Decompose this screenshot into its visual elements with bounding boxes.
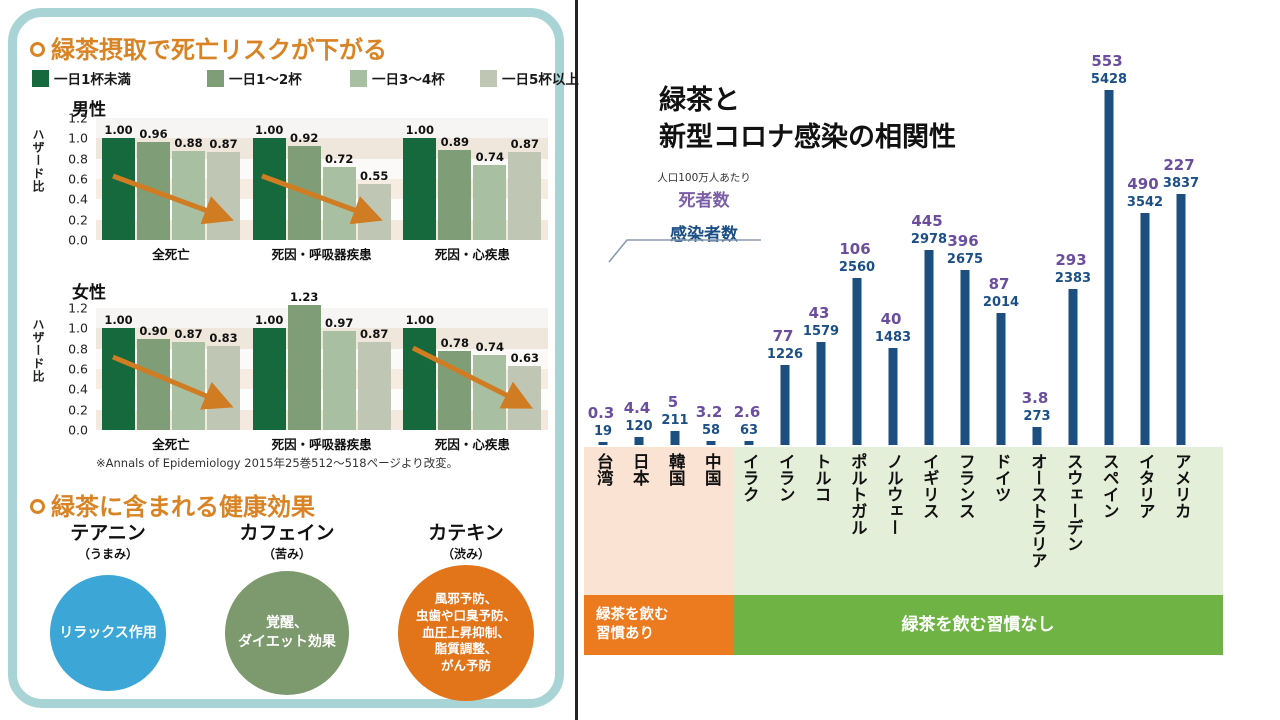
- covid-deaths-value: 5: [668, 393, 678, 411]
- legend-label: 一日1杯未満: [54, 68, 131, 88]
- covid-deaths-value: 490: [1127, 175, 1158, 193]
- section-title-effects: 緑茶に含まれる健康効果: [30, 487, 315, 522]
- component-circle-0: リラックス作用: [50, 575, 166, 691]
- covid-country-label: オーストラリア: [1029, 453, 1046, 569]
- bar-value-label: 0.87: [209, 137, 237, 151]
- bar-value-label: 0.87: [511, 137, 539, 151]
- bar: [253, 328, 286, 430]
- covid-country-label: トルコ: [813, 453, 830, 503]
- infographic-root: 緑茶摂取で死亡リスクが下がる 一日1杯未満一日1〜2杯一日3〜4杯一日5杯以上 …: [0, 0, 1280, 720]
- component-name-1: カフェイン（苦み）: [239, 518, 334, 562]
- bar: [403, 328, 436, 430]
- covid-bar: [889, 348, 898, 445]
- covid-bar: [817, 342, 826, 445]
- covid-bar: [961, 270, 970, 445]
- y-axis-tick: 0.2: [62, 402, 88, 417]
- bar-value-label: 1.00: [255, 123, 283, 137]
- legend-label: 一日5杯以上: [502, 68, 579, 88]
- bar-value-label: 0.89: [441, 135, 469, 149]
- bar-value-label: 0.74: [476, 340, 504, 354]
- covid-bar: [1105, 90, 1114, 445]
- bar-value-label: 0.72: [325, 152, 353, 166]
- y-axis-tick: 1.0: [62, 321, 88, 336]
- covid-country-label: スウェーデン: [1065, 453, 1082, 552]
- covid-country-label: 日本: [631, 453, 648, 486]
- covid-cases-value: 1226: [767, 347, 803, 362]
- covid-country-label: ポルトガル: [849, 453, 866, 536]
- component-subtitle: （渋み）: [428, 545, 503, 562]
- left-panel: 緑茶摂取で死亡リスクが下がる 一日1杯未満一日1〜2杯一日3〜4杯一日5杯以上 …: [0, 0, 578, 720]
- covid-country-label: アメリカ: [1173, 453, 1190, 519]
- covid-bar: [745, 441, 754, 445]
- covid-bar: [1033, 427, 1042, 445]
- covid-country-label: イラン: [777, 453, 794, 503]
- legend-cups: 一日1杯未満一日1〜2杯一日3〜4杯一日5杯以上: [32, 68, 552, 90]
- bar-value-label: 0.96: [139, 127, 167, 141]
- covid-country-label: 中国: [703, 453, 720, 486]
- group-label: 全死亡: [152, 434, 190, 453]
- bar: [438, 351, 471, 430]
- legend-label: 一日3〜4杯: [372, 68, 445, 88]
- bar-value-label: 0.88: [174, 136, 202, 150]
- bar: [102, 138, 135, 240]
- bar-value-label: 1.00: [104, 123, 132, 137]
- bar: [172, 342, 205, 430]
- legend-item-2: 一日3〜4杯: [350, 68, 445, 88]
- y-axis-tick: 0.4: [62, 382, 88, 397]
- bullet-ring-icon-2: [30, 499, 45, 514]
- bar: [137, 142, 170, 240]
- y-axis-tick: 0.6: [62, 362, 88, 377]
- bar: [473, 165, 506, 240]
- covid-bar: [671, 431, 680, 445]
- bar-value-label: 0.87: [360, 327, 388, 341]
- bar-value-label: 1.00: [406, 313, 434, 327]
- covid-deaths-value: 293: [1055, 251, 1086, 269]
- covid-deaths-value: 553: [1091, 52, 1122, 70]
- bar: [172, 151, 205, 240]
- covid-deaths-value: 43: [809, 304, 830, 322]
- covid-bar: [853, 278, 862, 445]
- bar: [137, 339, 170, 431]
- y-axis-tick: 1.2: [62, 111, 88, 126]
- legend-swatch-icon: [32, 70, 49, 87]
- covid-deaths-value: 87: [989, 275, 1010, 293]
- covid-country-label: フランス: [957, 453, 974, 519]
- group-label: 死因・心疾患: [435, 244, 510, 263]
- bar-value-label: 0.63: [511, 351, 539, 365]
- right-panel: 緑茶と 新型コロナ感染の相関性 人口100万人あたり 死者数 感染者数 緑茶を飲…: [581, 0, 1280, 720]
- source-note: ※Annals of Epidemiology 2015年25巻512〜518ペ…: [96, 455, 458, 471]
- bar: [288, 305, 321, 430]
- legend-item-1: 一日1〜2杯: [207, 68, 302, 88]
- legend-item-3: 一日5杯以上: [480, 68, 579, 88]
- covid-cases-value: 2560: [839, 260, 875, 275]
- covid-correlation-chart: 緑茶を飲む 習慣あり緑茶を飲む習慣なし190.3台湾1204.4日本2115韓国…: [581, 0, 1280, 720]
- female-yaxis-title: ハザード比: [32, 318, 44, 408]
- component-title: カフェイン: [239, 518, 334, 545]
- legend-swatch-icon: [480, 70, 497, 87]
- covid-deaths-value: 40: [881, 310, 902, 328]
- y-axis-tick: 0.2: [62, 212, 88, 227]
- covid-deaths-value: 0.3: [588, 404, 615, 422]
- covid-deaths-value: 445: [911, 212, 942, 230]
- section-title-effects-text: 緑茶に含まれる健康効果: [51, 493, 315, 521]
- bar: [207, 152, 240, 240]
- covid-cases-value: 3837: [1163, 176, 1199, 191]
- component-subtitle: （苦み）: [239, 545, 334, 562]
- bar: [473, 355, 506, 430]
- no-tea-habit-zone-label: 緑茶を飲む習慣なし: [733, 595, 1223, 655]
- covid-deaths-value: 106: [839, 240, 870, 258]
- component-subtitle: （うまみ）: [70, 545, 146, 562]
- group-label: 全死亡: [152, 244, 190, 263]
- y-axis-tick: 1.0: [62, 131, 88, 146]
- covid-cases-value: 58: [702, 423, 720, 438]
- covid-bar: [925, 250, 934, 445]
- covid-cases-value: 19: [594, 424, 612, 439]
- group-label: 死因・心疾患: [435, 434, 510, 453]
- covid-deaths-value: 77: [773, 327, 794, 345]
- legend-swatch-icon: [207, 70, 224, 87]
- y-axis-tick: 0.0: [62, 423, 88, 438]
- covid-bar: [1141, 213, 1150, 445]
- covid-country-label: スペイン: [1101, 453, 1118, 519]
- y-axis-tick: 0.6: [62, 172, 88, 187]
- covid-country-label: 台湾: [595, 453, 612, 486]
- female-chart-label: 女性: [72, 278, 106, 303]
- tea-habit-zone-label: 緑茶を飲む 習慣あり: [584, 595, 737, 655]
- covid-deaths-value: 3.8: [1022, 389, 1049, 407]
- component-title: テアニン: [70, 518, 146, 545]
- bar-value-label: 1.23: [290, 290, 318, 304]
- legend-item-0: 一日1杯未満: [32, 68, 131, 88]
- bar: [207, 346, 240, 430]
- bar: [253, 138, 286, 240]
- bar: [438, 150, 471, 240]
- covid-cases-value: 5428: [1091, 72, 1127, 87]
- covid-bar: [1069, 289, 1078, 445]
- y-axis-tick: 0.8: [62, 151, 88, 166]
- bar-value-label: 0.78: [441, 336, 469, 350]
- covid-deaths-value: 2.6: [734, 403, 761, 421]
- component-name-0: テアニン（うまみ）: [70, 518, 146, 562]
- covid-bar: [1177, 194, 1186, 445]
- bar: [508, 152, 541, 240]
- covid-cases-value: 3542: [1127, 195, 1163, 210]
- covid-country-label: ドイツ: [993, 453, 1010, 503]
- covid-country-label: イタリア: [1137, 453, 1154, 519]
- bar-value-label: 1.00: [406, 123, 434, 137]
- section-title-mortality: 緑茶摂取で死亡リスクが下がる: [30, 30, 387, 65]
- covid-country-label: ノルウェー: [885, 453, 902, 536]
- component-circle-1: 覚醒、 ダイエット効果: [225, 571, 349, 695]
- covid-bar: [707, 441, 716, 445]
- covid-bar: [599, 442, 608, 445]
- section-title-mortality-text: 緑茶摂取で死亡リスクが下がる: [51, 36, 387, 64]
- covid-cases-value: 2675: [947, 252, 983, 267]
- bar-value-label: 0.55: [360, 169, 388, 183]
- y-axis-tick: 0.4: [62, 192, 88, 207]
- legend-swatch-icon: [350, 70, 367, 87]
- bar: [102, 328, 135, 430]
- covid-cases-value: 2978: [911, 232, 947, 247]
- covid-deaths-value: 3.2: [696, 403, 723, 421]
- bar: [323, 167, 356, 240]
- component-circle-2: 風邪予防、 虫歯や口臭予防、 血圧上昇抑制、 脂質調整、 がん予防: [398, 565, 534, 701]
- bullet-ring-icon: [30, 42, 45, 57]
- covid-bar: [781, 365, 790, 445]
- bar: [358, 184, 391, 240]
- bar-value-label: 0.92: [290, 131, 318, 145]
- y-axis-tick: 0.8: [62, 341, 88, 356]
- bar: [323, 331, 356, 430]
- bar-value-label: 0.87: [174, 327, 202, 341]
- covid-cases-value: 273: [1023, 409, 1050, 424]
- covid-deaths-value: 396: [947, 232, 978, 250]
- bar-value-label: 0.90: [139, 324, 167, 338]
- bar: [288, 146, 321, 240]
- covid-country-label: イラク: [741, 453, 758, 503]
- covid-country-label: 韓国: [667, 453, 684, 486]
- bar-value-label: 0.83: [209, 331, 237, 345]
- legend-label: 一日1〜2杯: [229, 68, 302, 88]
- covid-bar: [635, 437, 644, 445]
- y-axis-tick: 0.0: [62, 233, 88, 248]
- component-title: カテキン: [428, 518, 503, 545]
- covid-deaths-value: 4.4: [624, 399, 651, 417]
- bar-value-label: 1.00: [255, 313, 283, 327]
- group-label: 死因・呼吸器疾患: [272, 244, 372, 263]
- covid-bar: [997, 313, 1006, 445]
- bar-value-label: 0.97: [325, 316, 353, 330]
- covid-country-label: イギリス: [921, 453, 938, 519]
- covid-deaths-value: 227: [1163, 156, 1194, 174]
- bar-value-label: 0.74: [476, 150, 504, 164]
- bar: [508, 366, 541, 430]
- male-yaxis-title: ハザード比: [32, 128, 44, 218]
- covid-cases-value: 1483: [875, 330, 911, 345]
- y-axis-tick: 1.2: [62, 301, 88, 316]
- covid-cases-value: 120: [625, 419, 652, 434]
- covid-cases-value: 211: [661, 413, 688, 428]
- covid-cases-value: 2014: [983, 295, 1019, 310]
- covid-cases-value: 1579: [803, 324, 839, 339]
- bar: [358, 342, 391, 430]
- group-label: 死因・呼吸器疾患: [272, 434, 372, 453]
- covid-cases-value: 63: [740, 423, 758, 438]
- bar-value-label: 1.00: [104, 313, 132, 327]
- bar: [403, 138, 436, 240]
- covid-cases-value: 2383: [1055, 271, 1091, 286]
- component-name-2: カテキン（渋み）: [428, 518, 503, 562]
